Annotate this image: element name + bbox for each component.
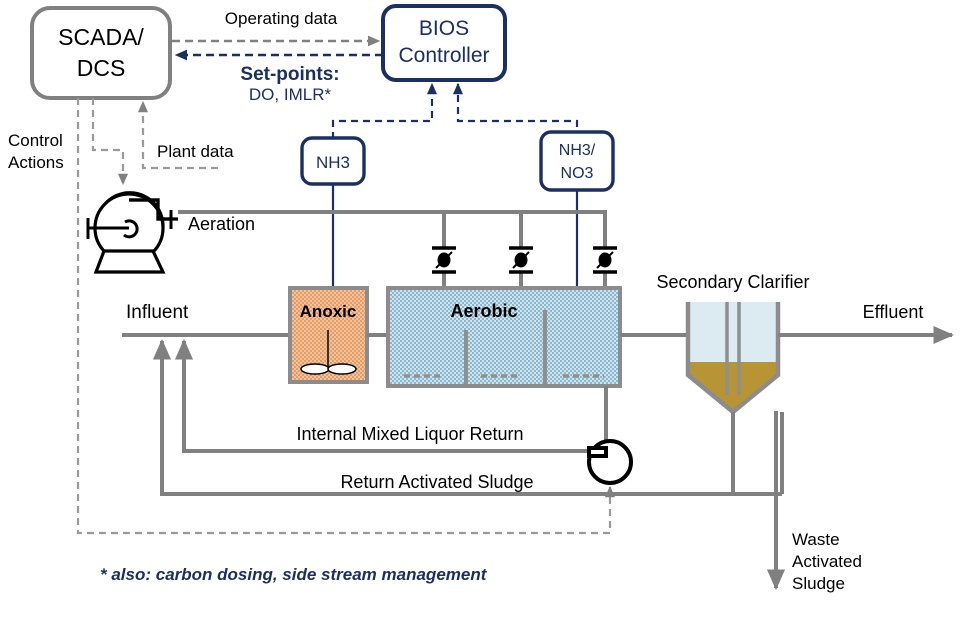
imlr-label: Internal Mixed Liquor Return: [296, 424, 523, 444]
scada-dcs-label-line2: DCS: [77, 55, 126, 81]
air-control-valve-1[interactable]: [432, 248, 456, 272]
anoxic-tank-label: Anoxic: [300, 302, 357, 321]
waste-activated-sludge: Waste Activated Sludge: [776, 411, 862, 593]
setpoints-signal: Set-points: DO, IMLR*: [176, 55, 383, 104]
operating-data-signal: Operating data: [172, 9, 379, 41]
plant-data-label: Plant data: [157, 142, 234, 161]
nh3-sensor-signal-line: [333, 84, 432, 139]
aerobic-tank[interactable]: Aerobic: [388, 288, 620, 386]
bios-controller-label-line2: Controller: [398, 44, 489, 67]
valve-3-body: [599, 253, 612, 268]
setpoints-label-line2: DO, IMLR*: [249, 85, 332, 104]
anoxic-mixer-blade-left: [301, 364, 329, 374]
was-label-line1: Waste: [792, 530, 840, 549]
bios-controller-box[interactable]: BIOS Controller: [383, 6, 505, 80]
secondary-clarifier-label: Secondary Clarifier: [656, 272, 809, 292]
control-actions-blower-line: [93, 98, 123, 184]
imlr-pump-suction-nozzle: [589, 448, 606, 456]
imlr-pump[interactable]: [589, 441, 631, 483]
ras-label: Return Activated Sludge: [340, 472, 533, 492]
anoxic-tank[interactable]: Anoxic: [290, 288, 367, 382]
valve-1-body: [438, 253, 451, 268]
scada-dcs-box-shape: [32, 8, 170, 98]
air-control-valve-3[interactable]: [593, 248, 617, 272]
valve-2-body: [515, 253, 528, 268]
scada-dcs-label-line1: SCADA/: [58, 24, 144, 50]
was-label-line3: Sludge: [792, 574, 845, 593]
blower-base: [96, 251, 163, 272]
wastewater-process-diagram: SCADA/ DCS BIOS Controller Operating dat…: [0, 0, 965, 625]
influent-label: Influent: [126, 302, 189, 323]
nh3no3-sensor-label-line2: NO3: [561, 165, 594, 182]
footnote-text: * also: carbon dosing, side stream manag…: [100, 565, 488, 584]
plant-data-signal: Plant data: [143, 102, 234, 168]
aeration-label: Aeration: [188, 214, 255, 234]
process-diagram-canvas: SCADA/ DCS BIOS Controller Operating dat…: [0, 0, 965, 625]
sensor-signal-lines: [333, 84, 577, 139]
aerobic-tank-label: Aerobic: [450, 301, 517, 321]
control-actions-label-line2: Actions: [8, 153, 64, 172]
nh3no3-sensor-label-line1: NH3/: [559, 142, 596, 159]
aeration-blower[interactable]: Aeration: [88, 193, 255, 272]
air-control-valve-2[interactable]: [509, 248, 533, 272]
was-label-line2: Activated: [792, 552, 862, 571]
secondary-clarifier[interactable]: Secondary Clarifier: [656, 272, 809, 412]
influent-flow: Influent: [122, 302, 290, 335]
operating-data-label: Operating data: [225, 9, 338, 28]
control-actions-label-line1: Control: [8, 131, 63, 150]
nh3-sensor-node[interactable]: NH3: [302, 138, 364, 305]
setpoints-label-line1: Set-points:: [240, 64, 339, 85]
nh3no3-sensor-node[interactable]: NH3/ NO3: [541, 132, 613, 308]
scada-dcs-box[interactable]: SCADA/ DCS: [32, 8, 170, 98]
effluent-label: Effluent: [863, 302, 924, 322]
anoxic-mixer-blade-right: [328, 364, 356, 374]
bios-controller-label-line1: BIOS: [419, 17, 469, 40]
nh3-sensor-label: NH3: [316, 153, 350, 172]
effluent-flow: Effluent: [778, 302, 952, 335]
